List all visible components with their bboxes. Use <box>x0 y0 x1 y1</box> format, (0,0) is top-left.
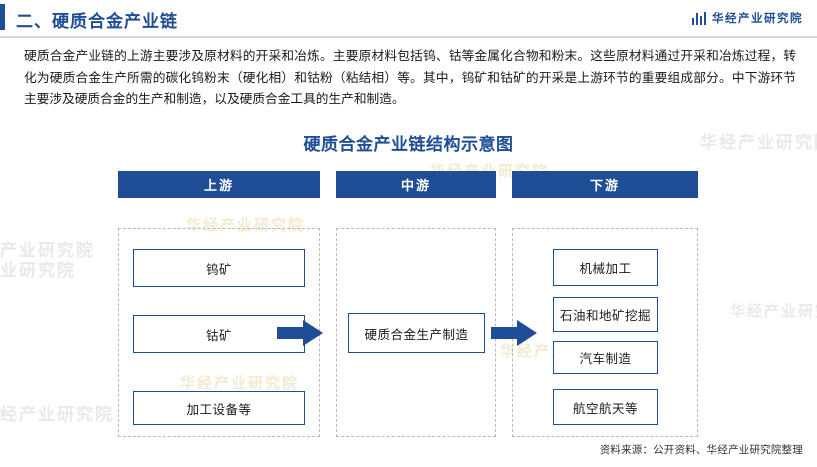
brand-logo: 华经产业研究院 <box>692 10 804 26</box>
node-downstream-1: 机械加工 <box>553 249 658 286</box>
page-title: 二、硬质合金产业链 <box>16 7 178 32</box>
stage-header-upstream: 上游 <box>118 171 320 198</box>
node-upstream-3: 加工设备等 <box>133 391 305 425</box>
bar-logo-icon <box>692 12 707 25</box>
header-accent-bar <box>0 4 5 30</box>
stage-header-downstream: 下游 <box>512 171 698 198</box>
watermark-text: 业研究院 <box>0 256 76 281</box>
node-downstream-3: 汽车制造 <box>553 341 658 374</box>
node-midstream-1: 硬质合金生产制造 <box>348 313 485 353</box>
node-downstream-2: 石油和地矿挖掘 <box>553 297 658 332</box>
section-header: 二、硬质合金产业链 华经产业研究院 <box>0 0 817 38</box>
right-arrow-icon <box>277 320 323 346</box>
right-arrow-icon <box>491 320 537 346</box>
stage-header-midstream: 中游 <box>336 171 496 198</box>
watermark-text: 产业研究院 <box>0 236 95 261</box>
diagram-title: 硬质合金产业链结构示意图 <box>0 130 817 155</box>
intro-paragraph: 硬质合金产业链的上游主要涉及原材料的开采和冶炼。主要原材料包括钨、钴等金属化合物… <box>24 46 796 111</box>
node-upstream-1: 钨矿 <box>133 249 305 287</box>
watermark-text: 经产业研究院 <box>0 400 114 425</box>
brand-name: 华经产业研究院 <box>712 10 803 26</box>
node-downstream-4: 航空航天等 <box>553 389 658 425</box>
source-note: 资料来源：公开资料、华经产业研究院整理 <box>600 442 803 457</box>
watermark-text: 华经产业研究院 <box>730 300 817 321</box>
